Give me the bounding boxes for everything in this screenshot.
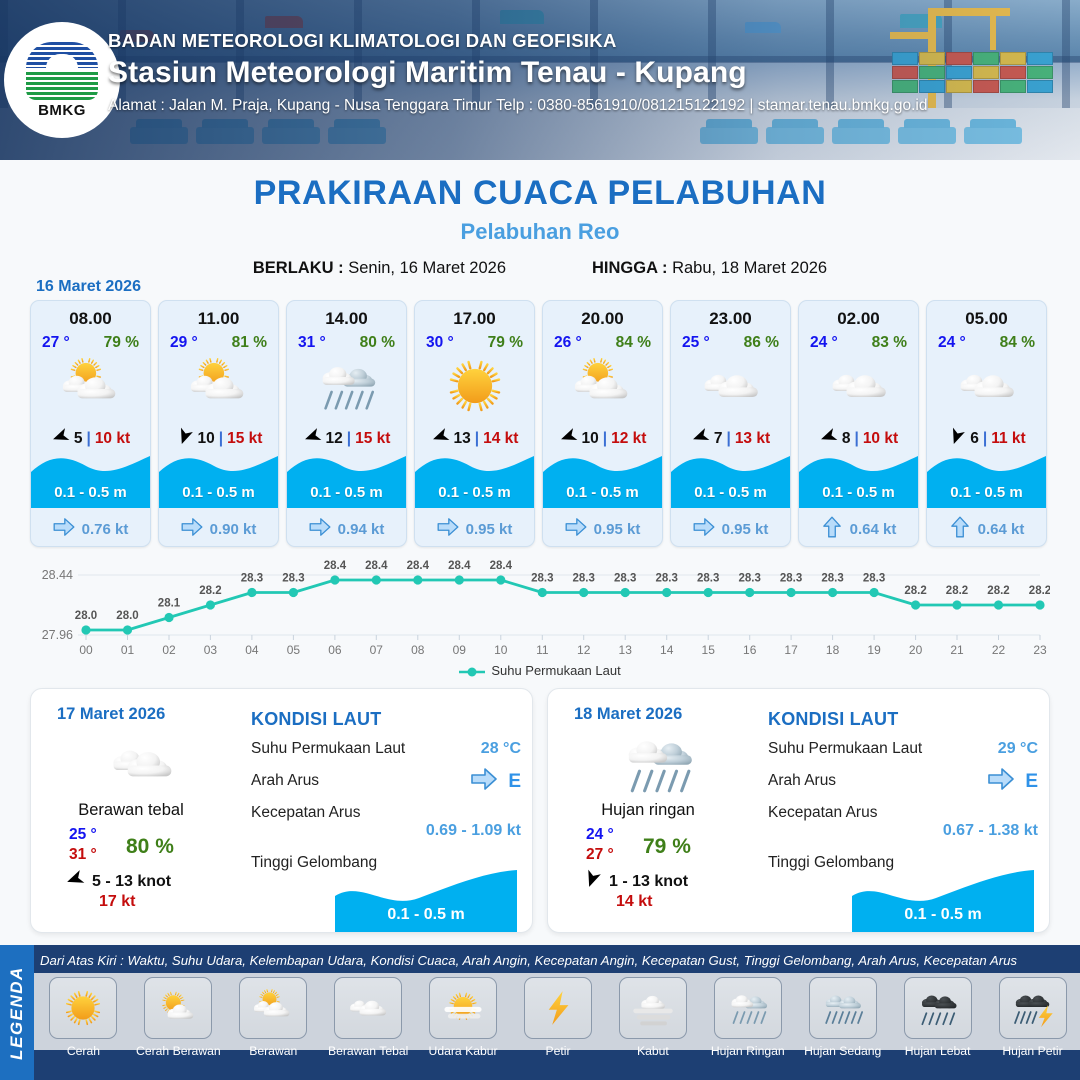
svg-text:28.3: 28.3 bbox=[780, 573, 802, 585]
fog-icon bbox=[619, 977, 687, 1039]
svg-text:04: 04 bbox=[245, 643, 259, 657]
svg-text:12: 12 bbox=[577, 643, 591, 657]
daily-summary-panel[interactable]: 18 Maret 2026 Hujan ringan 24 ° 27 ° 79 … bbox=[547, 688, 1050, 933]
legend-item-label: Hujan Lebat bbox=[892, 1044, 983, 1058]
card-wind-row: 12 | 15 kt bbox=[287, 427, 406, 451]
cloudy-icon bbox=[944, 356, 1030, 421]
current-arrow-wrap bbox=[181, 518, 203, 540]
card-wind-speed: 8 bbox=[842, 430, 851, 448]
thunderstorm-icon bbox=[999, 977, 1067, 1039]
sunny-icon bbox=[49, 977, 117, 1039]
svg-text:09: 09 bbox=[453, 643, 467, 657]
card-time: 02.00 bbox=[799, 309, 918, 329]
legend-item-label: Hujan Sedang bbox=[797, 1044, 888, 1058]
wind-direction-icon bbox=[945, 424, 969, 448]
card-gust: 14 kt bbox=[483, 430, 518, 448]
svg-text:11: 11 bbox=[536, 643, 549, 657]
card-wind-speed: 13 bbox=[454, 430, 471, 448]
sst-value: 28 °C bbox=[481, 740, 521, 758]
legend-item: Cerah Berawan bbox=[133, 977, 224, 1058]
wind-arrow-wrap bbox=[559, 427, 578, 451]
card-current-row: 0.76 kt bbox=[31, 518, 150, 540]
sst-value: 29 °C bbox=[998, 740, 1038, 758]
legend-item: Hujan Sedang bbox=[797, 977, 888, 1058]
card-wind-row: 10 | 12 kt bbox=[543, 427, 662, 451]
svg-text:16: 16 bbox=[743, 643, 757, 657]
svg-text:01: 01 bbox=[121, 643, 135, 657]
wave-label: Tinggi Gelombang bbox=[768, 854, 894, 871]
current-direction-row: Arah Arus E bbox=[768, 772, 1038, 794]
card-current-row: 0.64 kt bbox=[927, 518, 1046, 540]
wind-arrow-wrap bbox=[582, 869, 602, 894]
card-gust: 10 kt bbox=[863, 430, 898, 448]
card-wind-separator: | bbox=[983, 430, 987, 448]
wind-arrow-wrap bbox=[65, 869, 85, 894]
card-wind-separator: | bbox=[726, 430, 730, 448]
page-title-block: PRAKIRAAN CUACA PELABUHAN Pelabuhan Reo … bbox=[0, 174, 1080, 278]
card-gust: 15 kt bbox=[355, 430, 390, 448]
wave-row: Tinggi Gelombang 0.1 - 0.5 m bbox=[251, 854, 521, 876]
chart-legend: Suhu Permukaan Laut bbox=[0, 663, 1080, 678]
current-direction-icon bbox=[181, 518, 203, 536]
forecast-card[interactable]: 14.00 31 ° 80 % 12 | 15 kt bbox=[286, 300, 407, 547]
card-weather-icon-wrap bbox=[671, 355, 790, 421]
card-current-row: 0.94 kt bbox=[287, 518, 406, 540]
card-time: 23.00 bbox=[671, 309, 790, 329]
current-direction-icon bbox=[951, 516, 969, 538]
legend-line-marker bbox=[459, 666, 485, 678]
card-wind-separator: | bbox=[854, 430, 858, 448]
current-direction-value-wrap: E bbox=[470, 768, 521, 795]
haze-icon bbox=[429, 977, 497, 1039]
card-current-speed: 0.95 kt bbox=[466, 521, 513, 538]
svg-text:28.3: 28.3 bbox=[863, 573, 885, 585]
card-wave-height: 0.1 - 0.5 m bbox=[927, 484, 1046, 501]
wind-arrow-wrap bbox=[175, 427, 194, 451]
svg-text:28.4: 28.4 bbox=[365, 560, 388, 572]
card-wind-separator: | bbox=[219, 430, 223, 448]
card-wind-row: 10 | 15 kt bbox=[159, 427, 278, 451]
svg-text:21: 21 bbox=[950, 643, 964, 657]
card-wind-row: 7 | 13 kt bbox=[671, 427, 790, 451]
panel-sea-conditions: KONDISI LAUT Suhu Permukaan Laut 29 °C A… bbox=[768, 709, 1038, 876]
panel-wave-value: 0.1 - 0.5 m bbox=[335, 906, 517, 924]
card-weather-icon-wrap bbox=[415, 355, 534, 421]
cloudy-icon bbox=[688, 356, 774, 421]
panel-temp-max: 27 ° bbox=[586, 845, 614, 865]
berlaku-group: BERLAKU : Senin, 16 Maret 2026 bbox=[253, 259, 506, 278]
card-current-speed: 0.90 kt bbox=[210, 521, 257, 538]
card-wind-separator: | bbox=[347, 430, 351, 448]
card-weather-icon-wrap bbox=[159, 355, 278, 421]
current-direction-value: E bbox=[1025, 771, 1038, 793]
card-humidity: 81 % bbox=[232, 334, 267, 352]
card-current-speed: 0.64 kt bbox=[978, 521, 1025, 538]
legend-item-label: Petir bbox=[513, 1044, 604, 1058]
lightning-icon bbox=[524, 977, 592, 1039]
current-arrow-wrap bbox=[53, 518, 75, 540]
wind-arrow-wrap bbox=[431, 427, 450, 451]
svg-text:28.44: 28.44 bbox=[42, 568, 73, 582]
card-wind-row: 8 | 10 kt bbox=[799, 427, 918, 451]
svg-text:28.3: 28.3 bbox=[614, 573, 636, 585]
wind-direction-icon bbox=[48, 424, 72, 448]
svg-text:28.3: 28.3 bbox=[656, 573, 678, 585]
partly-cloudy-icon bbox=[560, 356, 646, 421]
card-time: 20.00 bbox=[543, 309, 662, 329]
current-direction-icon bbox=[53, 518, 75, 536]
panel-humidity: 79 % bbox=[643, 835, 691, 859]
card-current-row: 0.95 kt bbox=[671, 518, 790, 540]
card-gust: 12 kt bbox=[611, 430, 646, 448]
panel-temp-max: 31 ° bbox=[69, 845, 97, 865]
card-current-speed: 0.94 kt bbox=[338, 521, 385, 538]
card-temp-humidity: 30 ° 79 % bbox=[415, 334, 534, 352]
current-direction-value-wrap: E bbox=[987, 768, 1038, 795]
current-arrow-wrap bbox=[821, 518, 843, 540]
card-weather-icon-wrap bbox=[799, 355, 918, 421]
card-wave-area: 0.1 - 0.5 m bbox=[927, 450, 1046, 508]
panel-sea-conditions: KONDISI LAUT Suhu Permukaan Laut 28 °C A… bbox=[251, 709, 521, 876]
card-time: 08.00 bbox=[31, 309, 150, 329]
wind-direction-icon bbox=[556, 424, 580, 448]
legend-footer: LEGENDA Dari Atas Kiri : Waktu, Suhu Uda… bbox=[0, 945, 1080, 1080]
sst-row: Suhu Permukaan Laut 28 °C bbox=[251, 740, 521, 762]
sea-conditions-title: KONDISI LAUT bbox=[768, 709, 1038, 730]
card-wave-height: 0.1 - 0.5 m bbox=[287, 484, 406, 501]
legend-items-row: Cerah Cerah Berawan Berawan bbox=[38, 977, 1078, 1058]
current-speed-row: Kecepatan Arus 0.67 - 1.38 kt bbox=[768, 804, 1038, 844]
card-temp-humidity: 24 ° 83 % bbox=[799, 334, 918, 352]
sst-label: Suhu Permukaan Laut bbox=[768, 740, 922, 757]
card-wave-height: 0.1 - 0.5 m bbox=[31, 484, 150, 501]
card-temp-humidity: 27 ° 79 % bbox=[31, 334, 150, 352]
panel-wave-value: 0.1 - 0.5 m bbox=[852, 906, 1034, 924]
card-wind-row: 5 | 10 kt bbox=[31, 427, 150, 451]
svg-text:28.2: 28.2 bbox=[904, 585, 926, 597]
header-text-block: BADAN METEOROLOGI KLIMATOLOGI DAN GEOFIS… bbox=[108, 30, 927, 115]
panel-temps: 25 ° 31 ° bbox=[69, 825, 97, 865]
card-wind-speed: 6 bbox=[970, 430, 979, 448]
svg-text:28.3: 28.3 bbox=[241, 573, 263, 585]
svg-text:28.4: 28.4 bbox=[324, 560, 347, 572]
card-humidity: 84 % bbox=[616, 334, 651, 352]
daily-summary-panels: 17 Maret 2026 Berawan tebal 25 ° 31 ° 80… bbox=[30, 688, 1050, 933]
card-wind-speed: 10 bbox=[582, 430, 599, 448]
card-temp-humidity: 26 ° 84 % bbox=[543, 334, 662, 352]
cloudy-icon bbox=[334, 977, 402, 1039]
forecast-card-row: 08.00 27 ° 79 % 5 | 10 kt bbox=[30, 300, 1047, 547]
current-speed-label: Kecepatan Arus bbox=[768, 804, 877, 821]
station-name: Stasiun Meteorologi Maritim Tenau - Kupa… bbox=[108, 56, 927, 90]
page-title: PRAKIRAAN CUACA PELABUHAN bbox=[0, 174, 1080, 213]
panel-condition: Berawan tebal bbox=[31, 801, 231, 820]
forecast-card[interactable]: 20.00 26 ° 84 % 10 | 12 kt bbox=[542, 300, 663, 547]
legend-item: Berawan bbox=[228, 977, 319, 1058]
card-gust: 10 kt bbox=[95, 430, 130, 448]
wind-direction-icon bbox=[816, 424, 840, 448]
card-current-speed: 0.95 kt bbox=[722, 521, 769, 538]
card-wave-area: 0.1 - 0.5 m bbox=[159, 450, 278, 508]
panel-date: 18 Maret 2026 bbox=[574, 705, 682, 724]
card-wave-height: 0.1 - 0.5 m bbox=[159, 484, 278, 501]
current-arrow-wrap bbox=[470, 768, 498, 795]
forecast-day-label: 16 Maret 2026 bbox=[36, 278, 141, 296]
card-wind-speed: 7 bbox=[714, 430, 723, 448]
legend-side-text: LEGENDA bbox=[7, 966, 27, 1060]
card-wave-height: 0.1 - 0.5 m bbox=[543, 484, 662, 501]
current-direction-icon bbox=[693, 518, 715, 536]
legend-item: Hujan Ringan bbox=[702, 977, 793, 1058]
svg-text:22: 22 bbox=[992, 643, 1006, 657]
card-current-row: 0.95 kt bbox=[415, 518, 534, 540]
svg-text:28.4: 28.4 bbox=[448, 560, 471, 572]
card-temperature: 30 ° bbox=[426, 334, 454, 352]
hingga-label: HINGGA : bbox=[592, 259, 667, 277]
bmkg-logo-text: BMKG bbox=[38, 102, 86, 119]
legend-item: Cerah bbox=[38, 977, 129, 1058]
card-wave-height: 0.1 - 0.5 m bbox=[415, 484, 534, 501]
panel-date: 17 Maret 2026 bbox=[57, 705, 165, 724]
svg-text:07: 07 bbox=[370, 643, 384, 657]
card-humidity: 83 % bbox=[872, 334, 907, 352]
card-wave-area: 0.1 - 0.5 m bbox=[415, 450, 534, 508]
panel-gust: 17 kt bbox=[99, 893, 135, 911]
current-speed-row: Kecepatan Arus 0.69 - 1.09 kt bbox=[251, 804, 521, 844]
card-weather-icon-wrap bbox=[287, 355, 406, 421]
cloudy-icon bbox=[816, 356, 902, 421]
svg-text:20: 20 bbox=[909, 643, 923, 657]
svg-text:28.4: 28.4 bbox=[407, 560, 430, 572]
wind-arrow-wrap bbox=[303, 427, 322, 451]
wind-arrow-wrap bbox=[51, 427, 70, 451]
card-temp-humidity: 29 ° 81 % bbox=[159, 334, 278, 352]
forecast-card[interactable]: 17.00 30 ° 79 % 13 | 14 kt 0.1 - 0.5 m 0… bbox=[414, 300, 535, 547]
panel-wave-graphic: 0.1 - 0.5 m bbox=[335, 870, 517, 932]
card-temp-humidity: 31 ° 80 % bbox=[287, 334, 406, 352]
forecast-card[interactable]: 05.00 24 ° 84 % 6 | 11 kt bbox=[926, 300, 1047, 547]
wind-arrow-wrap bbox=[819, 427, 838, 451]
bmkg-logo-mark bbox=[26, 42, 98, 100]
current-speed-value: 0.69 - 1.09 kt bbox=[426, 822, 521, 840]
card-current-speed: 0.64 kt bbox=[850, 521, 897, 538]
current-direction-icon bbox=[987, 768, 1015, 790]
agency-name: BADAN METEOROLOGI KLIMATOLOGI DAN GEOFIS… bbox=[108, 30, 927, 52]
legend-item: Berawan Tebal bbox=[323, 977, 414, 1058]
legend-item-label: Berawan bbox=[228, 1044, 319, 1058]
card-humidity: 84 % bbox=[1000, 334, 1035, 352]
panel-temps: 24 ° 27 ° bbox=[586, 825, 614, 865]
legend-item-label: Hujan Petir bbox=[987, 1044, 1078, 1058]
card-gust: 15 kt bbox=[227, 430, 262, 448]
page-header: BMKG BADAN METEOROLOGI KLIMATOLOGI DAN G… bbox=[0, 0, 1080, 160]
current-direction-icon bbox=[823, 516, 841, 538]
card-wave-height: 0.1 - 0.5 m bbox=[671, 484, 790, 501]
card-wave-area: 0.1 - 0.5 m bbox=[671, 450, 790, 508]
daily-summary-panel[interactable]: 17 Maret 2026 Berawan tebal 25 ° 31 ° 80… bbox=[30, 688, 533, 933]
legend-item-label: Udara Kabur bbox=[418, 1044, 509, 1058]
card-weather-icon-wrap bbox=[31, 355, 150, 421]
svg-text:28.3: 28.3 bbox=[282, 573, 304, 585]
card-weather-icon-wrap bbox=[927, 355, 1046, 421]
card-wind-speed: 10 bbox=[198, 430, 215, 448]
wind-direction-icon bbox=[62, 866, 88, 892]
svg-text:28.2: 28.2 bbox=[946, 585, 968, 597]
svg-text:28.3: 28.3 bbox=[821, 573, 843, 585]
forecast-card[interactable]: 11.00 29 ° 81 % 10 | 15 kt bbox=[158, 300, 279, 547]
berlaku-label: BERLAKU : bbox=[253, 259, 344, 277]
svg-text:06: 06 bbox=[328, 643, 342, 657]
legend-item: Petir bbox=[513, 977, 604, 1058]
current-direction-value: E bbox=[508, 771, 521, 793]
card-current-speed: 0.76 kt bbox=[82, 521, 129, 538]
card-temp-humidity: 25 ° 86 % bbox=[671, 334, 790, 352]
current-direction-icon bbox=[437, 518, 459, 536]
card-temp-humidity: 24 ° 84 % bbox=[927, 334, 1046, 352]
svg-text:28.2: 28.2 bbox=[987, 585, 1009, 597]
current-direction-label: Arah Arus bbox=[768, 772, 836, 789]
svg-text:02: 02 bbox=[162, 643, 176, 657]
current-arrow-wrap bbox=[437, 518, 459, 540]
svg-text:28.3: 28.3 bbox=[739, 573, 761, 585]
panel-wind-row: 1 - 13 knot bbox=[582, 869, 688, 894]
current-speed-label: Kecepatan Arus bbox=[251, 804, 360, 821]
card-current-row: 0.90 kt bbox=[159, 518, 278, 540]
card-temperature: 24 ° bbox=[938, 334, 966, 352]
card-humidity: 80 % bbox=[360, 334, 395, 352]
chart-legend-label: Suhu Permukaan Laut bbox=[491, 663, 620, 678]
svg-text:14: 14 bbox=[660, 643, 674, 657]
wind-direction-icon bbox=[579, 866, 605, 892]
svg-text:00: 00 bbox=[79, 643, 93, 657]
sst-row: Suhu Permukaan Laut 29 °C bbox=[768, 740, 1038, 762]
panel-condition: Hujan ringan bbox=[548, 801, 748, 820]
current-direction-label: Arah Arus bbox=[251, 772, 319, 789]
wind-direction-icon bbox=[300, 424, 324, 448]
card-wind-separator: | bbox=[603, 430, 607, 448]
panel-gust: 14 kt bbox=[616, 893, 652, 911]
light-rain-icon bbox=[588, 729, 728, 799]
panel-wind-range: 1 - 13 knot bbox=[609, 873, 688, 891]
hingga-group: HINGGA : Rabu, 18 Maret 2026 bbox=[592, 259, 827, 278]
panel-temp-min: 24 ° bbox=[586, 825, 614, 845]
svg-text:03: 03 bbox=[204, 643, 218, 657]
card-gust: 13 kt bbox=[735, 430, 770, 448]
current-direction-row: Arah Arus E bbox=[251, 772, 521, 794]
current-arrow-wrap bbox=[565, 518, 587, 540]
current-arrow-wrap bbox=[693, 518, 715, 540]
berlaku-value: Senin, 16 Maret 2026 bbox=[348, 259, 506, 277]
overcast-icon bbox=[71, 729, 211, 799]
card-wave-height: 0.1 - 0.5 m bbox=[799, 484, 918, 501]
legend-item: Udara Kabur bbox=[418, 977, 509, 1058]
validity-row: BERLAKU : Senin, 16 Maret 2026 HINGGA : … bbox=[0, 259, 1080, 278]
legend-item: Kabut bbox=[607, 977, 698, 1058]
card-temperature: 29 ° bbox=[170, 334, 198, 352]
card-wind-row: 6 | 11 kt bbox=[927, 427, 1046, 451]
hingga-value: Rabu, 18 Maret 2026 bbox=[672, 259, 827, 277]
panel-humidity: 80 % bbox=[126, 835, 174, 859]
sea-conditions-title: KONDISI LAUT bbox=[251, 709, 521, 730]
legend-item-label: Cerah Berawan bbox=[133, 1044, 224, 1058]
svg-text:15: 15 bbox=[702, 643, 716, 657]
card-wave-area: 0.1 - 0.5 m bbox=[31, 450, 150, 508]
svg-text:17: 17 bbox=[784, 643, 798, 657]
svg-text:23: 23 bbox=[1033, 643, 1047, 657]
sunny-icon bbox=[432, 356, 518, 421]
mostly-sunny-icon bbox=[144, 977, 212, 1039]
svg-text:28.1: 28.1 bbox=[158, 598, 181, 610]
panel-wave-graphic: 0.1 - 0.5 m bbox=[852, 870, 1034, 932]
panel-wind-row: 5 - 13 knot bbox=[65, 869, 171, 894]
port-name: Pelabuhan Reo bbox=[0, 219, 1080, 245]
current-speed-value: 0.67 - 1.38 kt bbox=[943, 822, 1038, 840]
forecast-card[interactable]: 23.00 25 ° 86 % 7 | 13 kt bbox=[670, 300, 791, 547]
svg-text:28.2: 28.2 bbox=[199, 585, 221, 597]
svg-text:19: 19 bbox=[867, 643, 881, 657]
partly-cloudy-icon bbox=[48, 356, 134, 421]
card-wind-separator: | bbox=[86, 430, 90, 448]
forecast-card[interactable]: 02.00 24 ° 83 % 8 | 10 kt bbox=[798, 300, 919, 547]
card-current-row: 0.64 kt bbox=[799, 518, 918, 540]
card-temperature: 31 ° bbox=[298, 334, 326, 352]
legend-note: Dari Atas Kiri : Waktu, Suhu Udara, Kele… bbox=[40, 953, 1076, 968]
current-arrow-wrap bbox=[949, 518, 971, 540]
card-time: 11.00 bbox=[159, 309, 278, 329]
current-direction-icon bbox=[565, 518, 587, 536]
legend-item-label: Hujan Ringan bbox=[702, 1044, 793, 1058]
wind-direction-icon bbox=[688, 424, 712, 448]
card-weather-icon-wrap bbox=[543, 355, 662, 421]
card-humidity: 79 % bbox=[488, 334, 523, 352]
svg-text:18: 18 bbox=[826, 643, 840, 657]
svg-text:27.96: 27.96 bbox=[42, 628, 73, 642]
card-time: 17.00 bbox=[415, 309, 534, 329]
legend-item-label: Cerah bbox=[38, 1044, 129, 1058]
svg-text:28.0: 28.0 bbox=[75, 610, 97, 622]
bmkg-logo: BMKG bbox=[4, 22, 120, 138]
panel-temp-min: 25 ° bbox=[69, 825, 97, 845]
legend-side-label: LEGENDA bbox=[0, 945, 34, 1080]
svg-text:28.2: 28.2 bbox=[1029, 585, 1050, 597]
card-wind-separator: | bbox=[475, 430, 479, 448]
card-humidity: 79 % bbox=[104, 334, 139, 352]
card-current-row: 0.95 kt bbox=[543, 518, 662, 540]
heavy-rain-icon bbox=[904, 977, 972, 1039]
partly-cloudy-icon bbox=[239, 977, 307, 1039]
card-temperature: 24 ° bbox=[810, 334, 838, 352]
current-arrow-wrap bbox=[309, 518, 331, 540]
legend-item-label: Kabut bbox=[607, 1044, 698, 1058]
card-humidity: 86 % bbox=[744, 334, 779, 352]
light-rain-icon bbox=[714, 977, 782, 1039]
light-rain-icon bbox=[304, 356, 390, 421]
wave-row: Tinggi Gelombang 0.1 - 0.5 m bbox=[768, 854, 1038, 876]
current-direction-icon bbox=[309, 518, 331, 536]
svg-text:28.4: 28.4 bbox=[490, 560, 513, 572]
svg-text:28.3: 28.3 bbox=[573, 573, 595, 585]
wind-arrow-wrap bbox=[947, 427, 966, 451]
partly-cloudy-icon bbox=[176, 356, 262, 421]
card-time: 14.00 bbox=[287, 309, 406, 329]
legend-item: Hujan Lebat bbox=[892, 977, 983, 1058]
station-address: Alamat : Jalan M. Praja, Kupang - Nusa T… bbox=[108, 97, 927, 115]
card-temperature: 27 ° bbox=[42, 334, 70, 352]
forecast-card[interactable]: 08.00 27 ° 79 % 5 | 10 kt bbox=[30, 300, 151, 547]
legend-item-label: Berawan Tebal bbox=[323, 1044, 414, 1058]
current-arrow-wrap bbox=[987, 768, 1015, 795]
card-temperature: 25 ° bbox=[682, 334, 710, 352]
